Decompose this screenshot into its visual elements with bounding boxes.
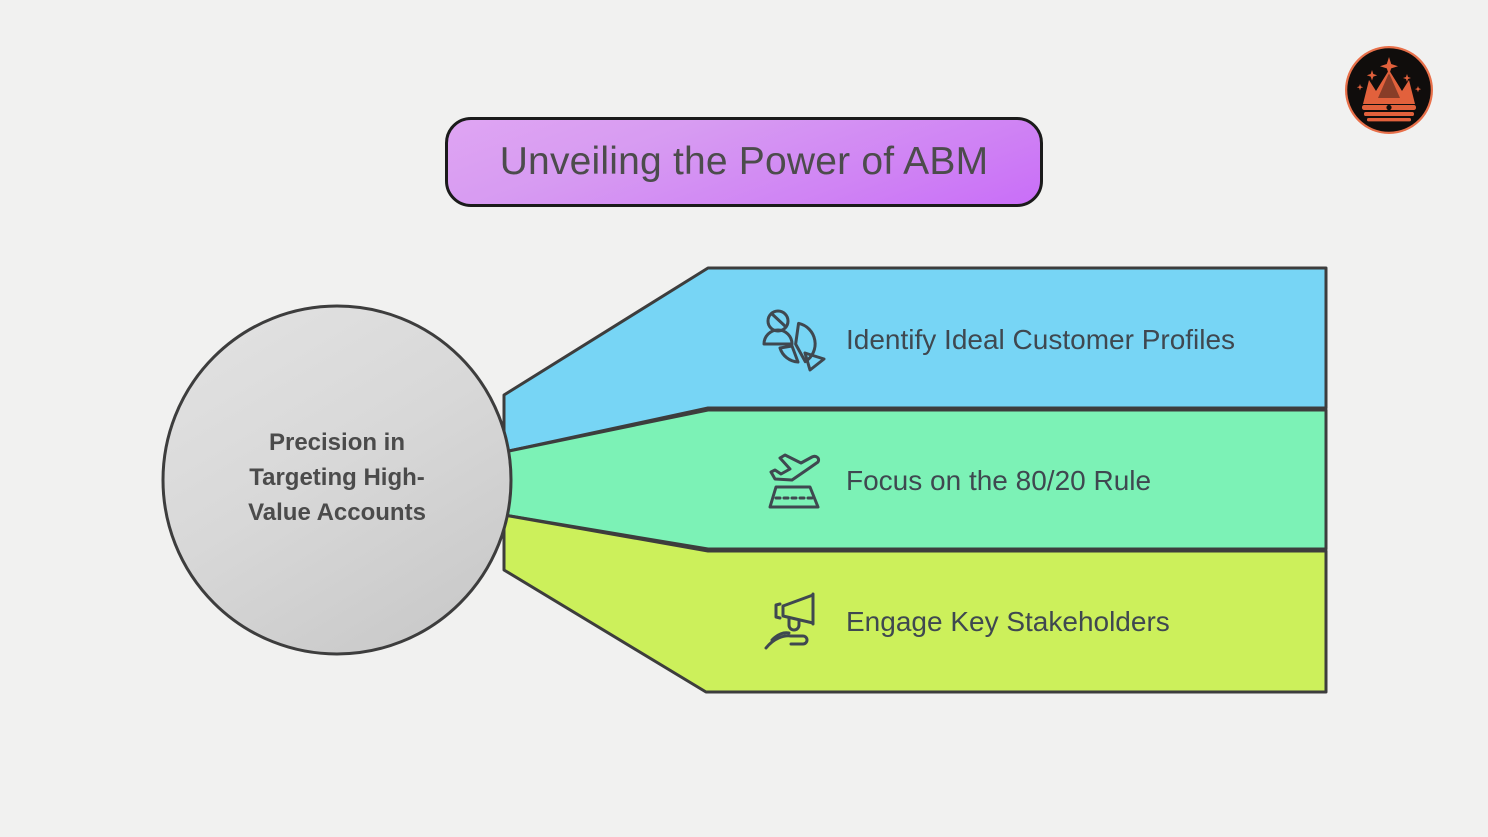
- band-shape-focus-on-the-80-20-rule[interactable]: [504, 410, 1326, 549]
- funnel-diagram: [0, 0, 1488, 837]
- hub-circle[interactable]: [163, 306, 511, 654]
- infographic-canvas: Unveiling the Power of ABM Precision in …: [0, 0, 1488, 837]
